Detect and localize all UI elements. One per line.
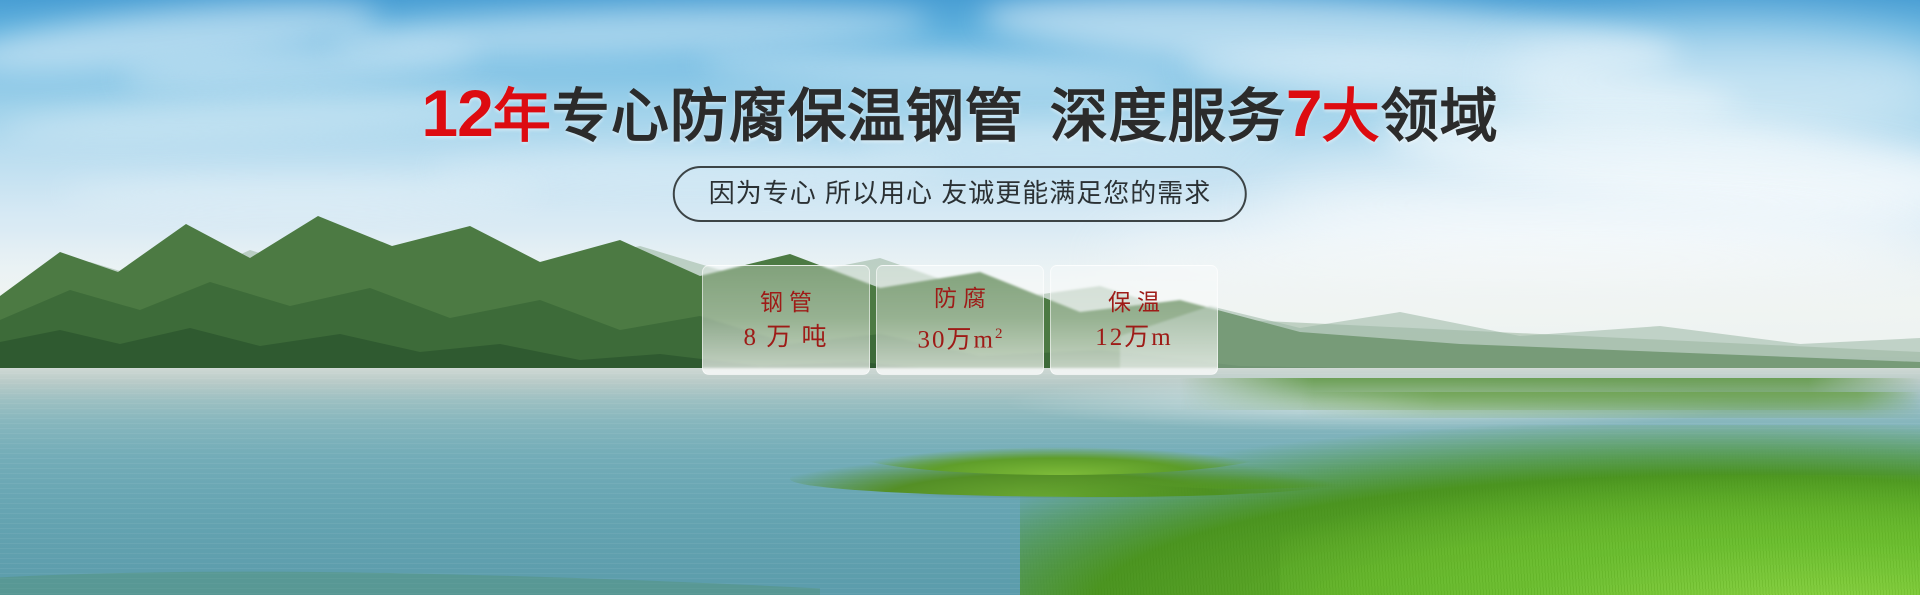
headline-seven-number: 7 xyxy=(1286,76,1322,150)
headline-fields: 领域 xyxy=(1381,84,1499,149)
headline-main: 专心防腐保温钢管 xyxy=(552,84,1024,149)
hero-banner: 12年专心防腐保温钢管深度服务7大领域 因为专心 所以用心 友诚更能满足您的需求… xyxy=(0,0,1920,595)
page-title: 12年专心防腐保温钢管深度服务7大领域 xyxy=(0,82,1920,148)
stat-label: 保温 xyxy=(1102,289,1166,315)
stat-label: 钢管 xyxy=(754,289,818,315)
stat-card-insulation: 保温 12万m xyxy=(1050,265,1218,375)
stat-card-steel-pipe: 钢管 8 万 吨 xyxy=(702,265,870,375)
banner-content: 12年专心防腐保温钢管深度服务7大领域 因为专心 所以用心 友诚更能满足您的需求… xyxy=(0,0,1920,595)
headline-years-number: 12 xyxy=(421,76,492,150)
stat-value-text: 30万m xyxy=(918,327,995,354)
subtitle-pill: 因为专心 所以用心 友诚更能满足您的需求 xyxy=(673,166,1247,222)
stat-value: 8 万 吨 xyxy=(743,324,828,352)
stat-value-exponent: 2 xyxy=(995,326,1003,342)
headline-seven-unit: 大 xyxy=(1322,84,1381,149)
stat-value-text: 12万m xyxy=(1095,324,1172,351)
headline-years-unit: 年 xyxy=(493,84,552,149)
stat-value-text: 8 万 吨 xyxy=(743,324,828,351)
stat-value: 12万m xyxy=(1095,324,1172,352)
stat-label: 防腐 xyxy=(928,285,992,311)
stat-card-anticorrosion: 防腐 30万m2 xyxy=(876,265,1044,375)
stats-row: 钢管 8 万 吨 防腐 30万m2 保温 12万m xyxy=(702,265,1218,375)
stat-value: 30万m2 xyxy=(918,320,1003,354)
headline-service: 深度服务 xyxy=(1050,84,1286,149)
